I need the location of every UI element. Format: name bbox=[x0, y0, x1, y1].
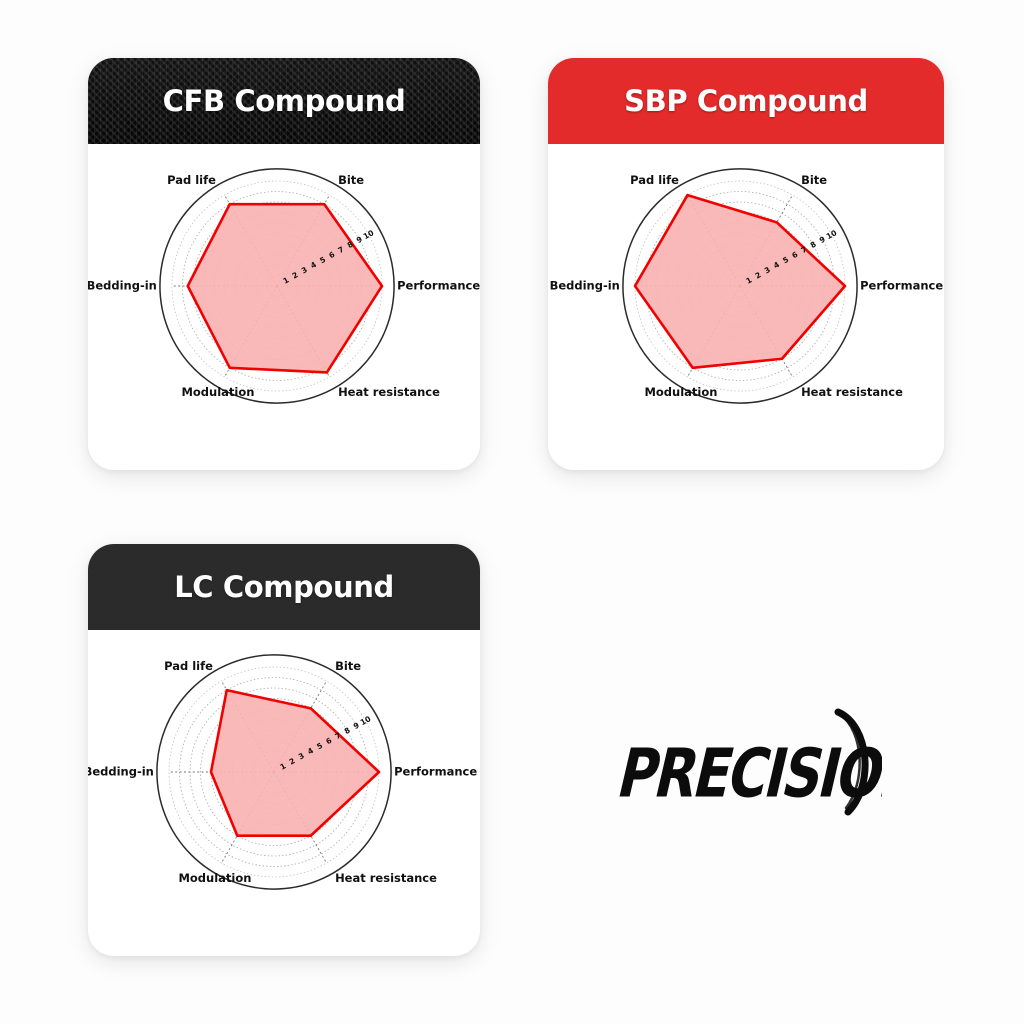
radar-axis-label: Modulation bbox=[644, 385, 717, 399]
radar-chart-lc: 12345678910BitePerformanceHeat resistanc… bbox=[88, 630, 480, 956]
radial-tick-label: 10 bbox=[362, 228, 376, 241]
poster-canvas: CFB Compound 12345678910BitePerformanceH… bbox=[0, 0, 1024, 1024]
radar-axis-label: Bedding-in bbox=[550, 279, 620, 293]
radar-axis-label: Pad life bbox=[167, 173, 216, 187]
radar-axis-label: Performance bbox=[394, 765, 477, 779]
radial-tick-label: 8 bbox=[809, 240, 818, 250]
precision-logo: PRECISION bbox=[612, 702, 882, 822]
card-title-cfb: CFB Compound bbox=[163, 84, 406, 118]
radar-axis-label: Performance bbox=[397, 279, 480, 293]
radar-axis-label: Bite bbox=[335, 659, 361, 673]
card-body-sbp: 12345678910BitePerformanceHeat resistanc… bbox=[548, 144, 944, 470]
radar-axis-label: Bedding-in bbox=[88, 765, 154, 779]
radar-axis-label: Bedding-in bbox=[88, 279, 157, 293]
radar-axis-label: Bite bbox=[801, 173, 827, 187]
radar-axis-label: Modulation bbox=[178, 871, 251, 885]
radar-axis-label: Pad life bbox=[630, 173, 679, 187]
radar-chart-sbp: 12345678910BitePerformanceHeat resistanc… bbox=[548, 144, 944, 470]
radar-axis-label: Heat resistance bbox=[335, 871, 437, 885]
card-body-lc: 12345678910BitePerformanceHeat resistanc… bbox=[88, 630, 480, 956]
precision-logo-svg: PRECISION bbox=[612, 702, 882, 822]
radial-tick-label: 10 bbox=[825, 228, 839, 241]
logo-wordmark: PRECISION bbox=[612, 734, 882, 812]
compound-card-cfb[interactable]: CFB Compound 12345678910BitePerformanceH… bbox=[88, 58, 480, 470]
radar-axis-label: Modulation bbox=[181, 385, 254, 399]
radar-axis-label: Heat resistance bbox=[801, 385, 903, 399]
compound-card-lc[interactable]: LC Compound 12345678910BitePerformanceHe… bbox=[88, 544, 480, 956]
card-title-lc: LC Compound bbox=[174, 570, 394, 604]
radar-axis-label: Performance bbox=[860, 279, 943, 293]
radar-axis-label: Pad life bbox=[164, 659, 213, 673]
radar-chart-cfb: 12345678910BitePerformanceHeat resistanc… bbox=[88, 144, 480, 470]
radial-tick-label: 10 bbox=[359, 714, 373, 727]
radar-axis-label: Heat resistance bbox=[338, 385, 440, 399]
compound-card-sbp[interactable]: SBP Compound 12345678910BitePerformanceH… bbox=[548, 58, 944, 470]
radial-tick-label: 8 bbox=[343, 726, 352, 736]
card-header-lc: LC Compound bbox=[88, 544, 480, 630]
radar-axis-label: Bite bbox=[338, 173, 364, 187]
card-header-cfb: CFB Compound bbox=[88, 58, 480, 144]
card-title-sbp: SBP Compound bbox=[624, 84, 868, 118]
card-header-sbp: SBP Compound bbox=[548, 58, 944, 144]
card-body-cfb: 12345678910BitePerformanceHeat resistanc… bbox=[88, 144, 480, 470]
